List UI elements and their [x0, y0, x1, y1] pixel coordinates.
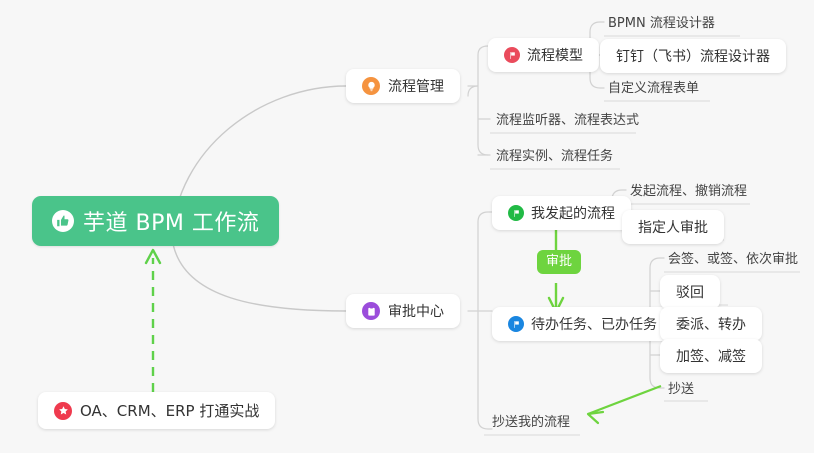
mindmap-canvas: 芋道 BPM 工作流 流程管理 流程模型 BPMN 流程设计器 钉钉（飞书）流程…	[0, 0, 814, 453]
star-icon	[54, 402, 72, 420]
wire-cc-to-my-process	[588, 386, 661, 423]
node-label: 我发起的流程	[531, 203, 615, 223]
node-todo-done-tasks[interactable]: 待办任务、已办任务	[492, 307, 673, 341]
footnote-node[interactable]: OA、CRM、ERP 打通实战	[38, 392, 275, 429]
branch-label: 审批中心	[388, 301, 444, 321]
leaf-bpmn-designer[interactable]: BPMN 流程设计器	[600, 6, 723, 36]
leaf-label: 流程监听器、流程表达式	[496, 109, 639, 128]
flag-icon	[508, 316, 524, 332]
leaf-add-remove-sign[interactable]: 加签、减签	[660, 339, 762, 373]
root-node[interactable]: 芋道 BPM 工作流	[32, 196, 279, 246]
leaf-dingtalk-feishu-designer[interactable]: 钉钉（飞书）流程设计器	[600, 39, 786, 73]
leaf-custom-process-form[interactable]: 自定义流程表单	[600, 71, 707, 101]
leaf-delegate-transfer[interactable]: 委派、转办	[660, 307, 762, 341]
leaf-cc[interactable]: 抄送	[660, 372, 702, 402]
wire-root-to-approval-center	[172, 238, 346, 311]
leaf-cc-to-me[interactable]: 抄送我的流程	[484, 405, 578, 435]
approval-badge: 审批	[537, 250, 581, 274]
leaf-label: 加签、减签	[676, 346, 746, 366]
node-label: 待办任务、已办任务	[531, 314, 657, 334]
leaf-label: 流程实例、流程任务	[496, 145, 613, 164]
branch-process-management[interactable]: 流程管理	[346, 69, 460, 103]
node-process-model[interactable]: 流程模型	[488, 38, 599, 72]
leaf-label: 自定义流程表单	[608, 77, 699, 96]
leaf-label: 委派、转办	[676, 314, 746, 334]
leaf-label: 抄送	[668, 378, 694, 397]
leaf-instance-task[interactable]: 流程实例、流程任务	[488, 139, 621, 169]
clipboard-icon	[362, 302, 380, 320]
flag-icon	[504, 47, 520, 63]
leaf-start-cancel-process[interactable]: 发起流程、撤销流程	[622, 174, 755, 204]
leaf-label: 发起流程、撤销流程	[630, 180, 747, 199]
wire-footnote-to-root	[146, 250, 160, 392]
leaf-label: 驳回	[676, 282, 704, 302]
leaf-reject[interactable]: 驳回	[660, 275, 720, 309]
node-my-initiated[interactable]: 我发起的流程	[492, 196, 631, 230]
leaf-label: 钉钉（飞书）流程设计器	[616, 46, 770, 66]
leaf-label: 抄送我的流程	[492, 411, 570, 430]
leaf-assignee-approval[interactable]: 指定人审批	[622, 210, 724, 244]
branch-label: 流程管理	[388, 76, 444, 96]
node-label: 流程模型	[527, 45, 583, 65]
leaf-label: BPMN 流程设计器	[608, 12, 715, 31]
root-label: 芋道 BPM 工作流	[83, 205, 259, 237]
branch-approval-center[interactable]: 审批中心	[346, 294, 460, 328]
flag-icon	[508, 205, 524, 221]
leaf-listener-expression[interactable]: 流程监听器、流程表达式	[488, 103, 647, 133]
leaf-label: 指定人审批	[638, 217, 708, 237]
lightbulb-icon	[362, 77, 380, 95]
thumbs-up-icon	[52, 210, 74, 232]
footnote-label: OA、CRM、ERP 打通实战	[80, 400, 259, 421]
leaf-label: 会签、或签、依次审批	[668, 248, 798, 267]
leaf-countersign[interactable]: 会签、或签、依次审批	[660, 242, 806, 272]
